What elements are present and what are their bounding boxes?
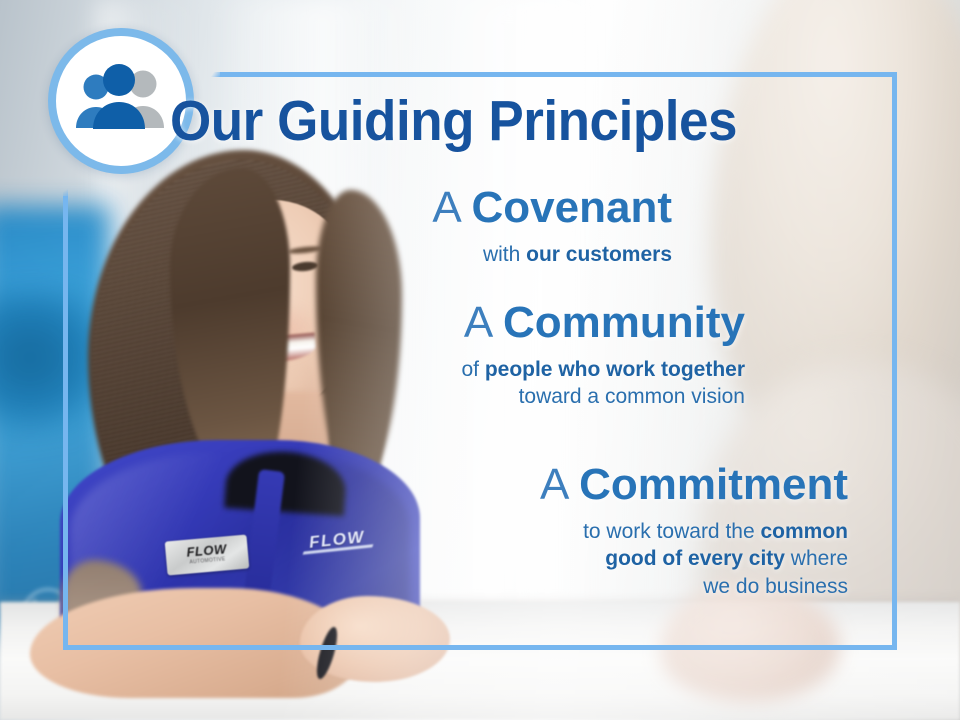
principle-covenant-headline: A Covenant xyxy=(0,185,672,232)
principle-commitment-detail: to work toward the common good of every … xyxy=(478,518,848,601)
page-title: Our Guiding Principles xyxy=(36,92,870,150)
commitment-detail-line3: we do business xyxy=(703,575,848,598)
covenant-word: Covenant xyxy=(472,183,672,232)
community-article: A xyxy=(464,298,491,347)
guiding-principles-banner: FLOW FLOW AUTOMOTIVE xyxy=(0,0,960,720)
commitment-word: Commitment xyxy=(579,460,848,509)
covenant-detail-plain: with xyxy=(483,243,526,266)
community-detail-plain: of xyxy=(461,358,484,381)
commitment-detail-line1-bold: common xyxy=(760,520,848,543)
principle-covenant-detail: with our customers xyxy=(0,241,672,269)
commitment-detail-line2-bold: good of every city xyxy=(605,547,785,570)
commitment-detail-line1-plain: to work toward the xyxy=(583,520,760,543)
principle-commitment-headline: A Commitment xyxy=(0,462,848,509)
commitment-detail-line2-plain: where xyxy=(785,547,848,570)
community-word: Community xyxy=(503,298,745,347)
community-detail-bold: people who work together xyxy=(485,358,745,381)
covenant-detail-bold: our customers xyxy=(526,243,672,266)
commitment-article: A xyxy=(540,460,567,509)
principle-covenant: A Covenant with our customers xyxy=(0,185,672,268)
principle-community-headline: A Community xyxy=(0,300,745,347)
principle-commitment: A Commitment to work toward the common g… xyxy=(0,462,848,601)
covenant-article: A xyxy=(432,183,459,232)
principle-community-detail: of people who work together toward a com… xyxy=(0,356,745,411)
principle-community: A Community of people who work together … xyxy=(0,300,745,411)
community-detail-line2: toward a common vision xyxy=(519,385,745,408)
